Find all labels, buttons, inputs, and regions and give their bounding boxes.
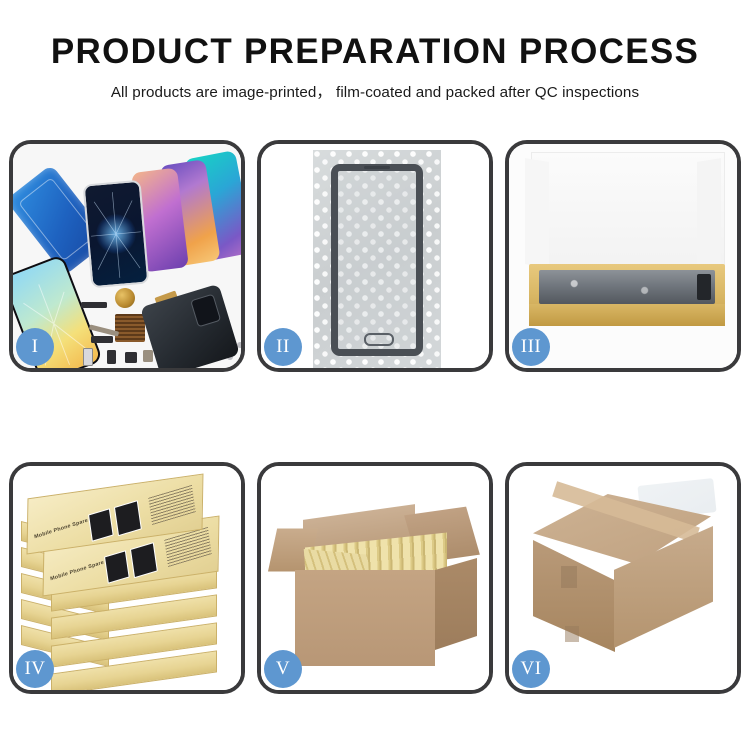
- component-image: [143, 350, 153, 362]
- step-badge-4: IV: [16, 650, 54, 688]
- box-spec-lines: [148, 485, 195, 525]
- component-image: [125, 352, 137, 363]
- carton-side-image: [435, 558, 477, 650]
- speaker-coil-image: [115, 288, 135, 308]
- process-step-panel-6[interactable]: VI: [505, 462, 741, 694]
- screen-glass-image: [331, 164, 423, 356]
- component-image: [91, 336, 113, 343]
- process-step-panel-2[interactable]: II: [257, 140, 493, 372]
- carton-tab-image: [561, 566, 577, 588]
- packed-product-image: [539, 270, 715, 304]
- component-image: [81, 302, 107, 308]
- page-header: PRODUCT PREPARATION PROCESS All products…: [0, 0, 750, 102]
- box-flap-right-image: [697, 158, 721, 268]
- box-lid-image: [531, 152, 725, 274]
- component-image: [83, 348, 93, 366]
- process-step-panel-4[interactable]: Mobile Phone Spare Parts Mobile Phone Sp…: [9, 462, 245, 694]
- process-step-panel-1[interactable]: I: [9, 140, 245, 372]
- ic-chip-image: [115, 314, 145, 342]
- process-step-grid: I II III: [9, 140, 741, 694]
- component-image: [107, 350, 116, 364]
- crack-icon: [85, 182, 148, 286]
- box-artwork-thumb: [130, 542, 158, 578]
- box-artwork-thumb: [114, 500, 142, 536]
- carton-tab-image: [565, 626, 579, 642]
- process-step-panel-3[interactable]: III: [505, 140, 741, 372]
- step-badge-6: VI: [512, 650, 550, 688]
- black-screen-image: [83, 180, 150, 289]
- box-flap-left-image: [525, 158, 549, 268]
- process-step-panel-5[interactable]: V: [257, 462, 493, 694]
- carton-front-image: [295, 570, 435, 666]
- box-artwork-thumb: [88, 508, 114, 542]
- box-tray-front-image: [529, 304, 725, 326]
- step-badge-2: II: [264, 328, 302, 366]
- page-subtitle: All products are image-printed， film-coa…: [0, 80, 750, 102]
- step-badge-1: I: [16, 328, 54, 366]
- page-title: PRODUCT PREPARATION PROCESS: [0, 34, 750, 71]
- bubble-wrap-sheet-image: [313, 150, 441, 368]
- home-button-image: [364, 333, 394, 346]
- box-artwork-thumb: [104, 550, 130, 584]
- step-badge-3: III: [512, 328, 550, 366]
- step-badge-5: V: [264, 650, 302, 688]
